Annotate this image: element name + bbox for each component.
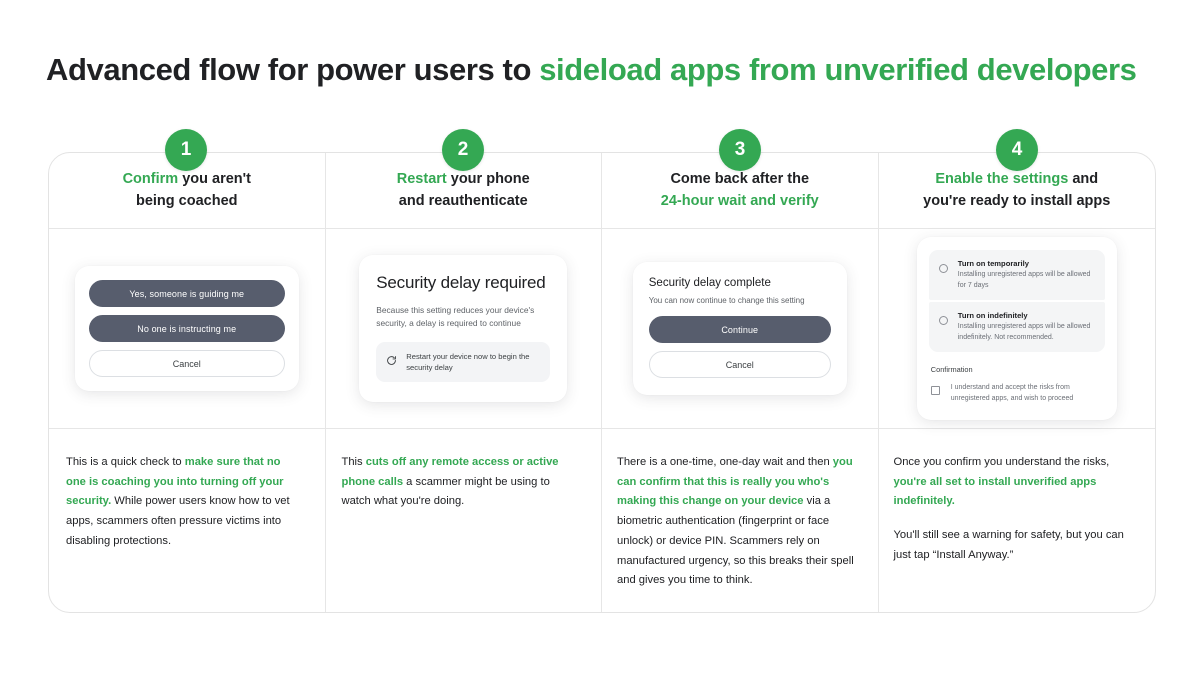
page-title: Advanced flow for power users to sideloa… bbox=[46, 52, 1166, 88]
option-indefinitely-title: Turn on indefinitely bbox=[958, 311, 1095, 320]
security-delay-complete-title: Security delay complete bbox=[649, 277, 831, 289]
step-3-heading-line2-green: 24-hour wait and verify bbox=[661, 193, 819, 209]
step-4-heading-line2: you're ready to install apps bbox=[923, 193, 1110, 209]
desc-4-paragraph-2: You'll still see a warning for safety, b… bbox=[894, 529, 1124, 561]
checkbox-icon[interactable] bbox=[931, 386, 940, 395]
step-badge-3-number: 3 bbox=[735, 139, 746, 161]
step-badge-4: 4 bbox=[996, 129, 1038, 171]
radio-button-icon[interactable] bbox=[939, 264, 948, 273]
infographic-page: Advanced flow for power users to sideloa… bbox=[0, 0, 1200, 675]
step-2-description: This cuts off any remote access or activ… bbox=[326, 429, 602, 512]
step-4-heading-green: Enable the settings bbox=[935, 171, 1068, 187]
desc-4-seg-0: Once you confirm you understand the risk… bbox=[894, 456, 1110, 468]
step-1-description-cell: This is a quick check to make sure that … bbox=[49, 429, 326, 613]
option-turn-on-indefinitely[interactable]: Turn on indefinitely Installing unregist… bbox=[929, 302, 1105, 352]
desc-3-seg-0: There is a one-time, one-day wait and th… bbox=[617, 456, 833, 468]
step-2-description-cell: This cuts off any remote access or activ… bbox=[326, 429, 603, 613]
cancel-button-step3[interactable]: Cancel bbox=[649, 351, 831, 378]
continue-button[interactable]: Continue bbox=[649, 316, 831, 343]
cancel-button[interactable]: Cancel bbox=[89, 350, 285, 377]
step-4-heading-rest: and bbox=[1068, 171, 1098, 187]
restart-icon bbox=[386, 353, 397, 371]
steps-grid: Confirm you aren't being coached Restart… bbox=[48, 152, 1156, 613]
step-2-mockup-wrapper: Security delay required Because this set… bbox=[326, 229, 602, 428]
guided-no-button[interactable]: No one is instructing me bbox=[89, 315, 285, 342]
step-badge-2: 2 bbox=[442, 129, 484, 171]
step-4-description-cell: Once you confirm you understand the risk… bbox=[879, 429, 1156, 613]
confirmation-text: I understand and accept the risks from u… bbox=[951, 383, 1105, 405]
step-badge-1-number: 1 bbox=[181, 139, 192, 161]
step-3-heading-rest: Come back after the bbox=[670, 171, 809, 187]
step-badge-2-number: 2 bbox=[458, 139, 469, 161]
page-title-plain: Advanced flow for power users to bbox=[46, 52, 539, 87]
desc-4-seg-1: you're all set to install unverified app… bbox=[894, 476, 1097, 508]
step-badge-3: 3 bbox=[719, 129, 761, 171]
desc-3-seg-2: via a biometric authentication (fingerpr… bbox=[617, 495, 854, 586]
security-delay-required-mockup: Security delay required Because this set… bbox=[359, 255, 567, 402]
confirmation-row[interactable]: I understand and accept the risks from u… bbox=[929, 383, 1105, 405]
step-2-heading-green: Restart bbox=[397, 171, 447, 187]
page-title-highlight: sideload apps from unverified developers bbox=[539, 52, 1136, 87]
step-3-mockup-wrapper: Security delay complete You can now cont… bbox=[602, 229, 878, 428]
confirmation-section-label: Confirmation bbox=[931, 365, 1105, 374]
option-indefinitely-subtitle: Installing unregistered apps will be all… bbox=[958, 322, 1095, 343]
step-4-mockup-wrapper: Turn on temporarily Installing unregiste… bbox=[879, 229, 1156, 428]
step-2-mockup-cell: Security delay required Because this set… bbox=[326, 229, 603, 429]
step-1-description: This is a quick check to make sure that … bbox=[49, 429, 325, 552]
desc-4-paragraph-gap bbox=[894, 512, 1134, 526]
step-4-description: Once you confirm you understand the risk… bbox=[879, 429, 1156, 566]
security-delay-complete-body: You can now continue to change this sett… bbox=[649, 296, 831, 305]
step-1-heading-line2: being coached bbox=[136, 193, 238, 209]
option-turn-on-temporarily[interactable]: Turn on temporarily Installing unregiste… bbox=[929, 250, 1105, 300]
radio-settings-mockup: Turn on temporarily Installing unregiste… bbox=[917, 237, 1117, 420]
step-4-mockup-cell: Turn on temporarily Installing unregiste… bbox=[879, 229, 1156, 429]
restart-device-tile[interactable]: Restart your device now to begin the sec… bbox=[376, 342, 550, 382]
step-1-heading-rest: you aren't bbox=[178, 171, 251, 187]
desc-1-seg-0: This is a quick check to bbox=[66, 456, 185, 468]
security-delay-required-title: Security delay required bbox=[376, 273, 550, 294]
step-1-mockup-cell: Yes, someone is guiding me No one is ins… bbox=[49, 229, 326, 429]
radio-button-icon[interactable] bbox=[939, 316, 948, 325]
step-3-mockup-cell: Security delay complete You can now cont… bbox=[602, 229, 879, 429]
option-temporarily-subtitle: Installing unregistered apps will be all… bbox=[958, 270, 1095, 291]
option-temporarily-title: Turn on temporarily bbox=[958, 259, 1095, 268]
security-delay-required-body: Because this setting reduces your device… bbox=[376, 304, 550, 330]
step-2-heading-rest: your phone bbox=[447, 171, 530, 187]
restart-device-tile-text: Restart your device now to begin the sec… bbox=[406, 351, 540, 373]
step-badge-1: 1 bbox=[165, 129, 207, 171]
step-1-heading-green: Confirm bbox=[123, 171, 179, 187]
step-1-mockup-wrapper: Yes, someone is guiding me No one is ins… bbox=[49, 229, 325, 428]
guided-yes-button[interactable]: Yes, someone is guiding me bbox=[89, 280, 285, 307]
step-badge-4-number: 4 bbox=[1012, 139, 1023, 161]
security-delay-complete-mockup: Security delay complete You can now cont… bbox=[633, 262, 847, 395]
step-3-description: There is a one-time, one-day wait and th… bbox=[602, 429, 878, 591]
dialog-buttons-mockup: Yes, someone is guiding me No one is ins… bbox=[75, 266, 299, 391]
step-3-description-cell: There is a one-time, one-day wait and th… bbox=[602, 429, 879, 613]
desc-2-seg-0: This bbox=[342, 456, 366, 468]
step-2-heading-line2: and reauthenticate bbox=[399, 193, 528, 209]
